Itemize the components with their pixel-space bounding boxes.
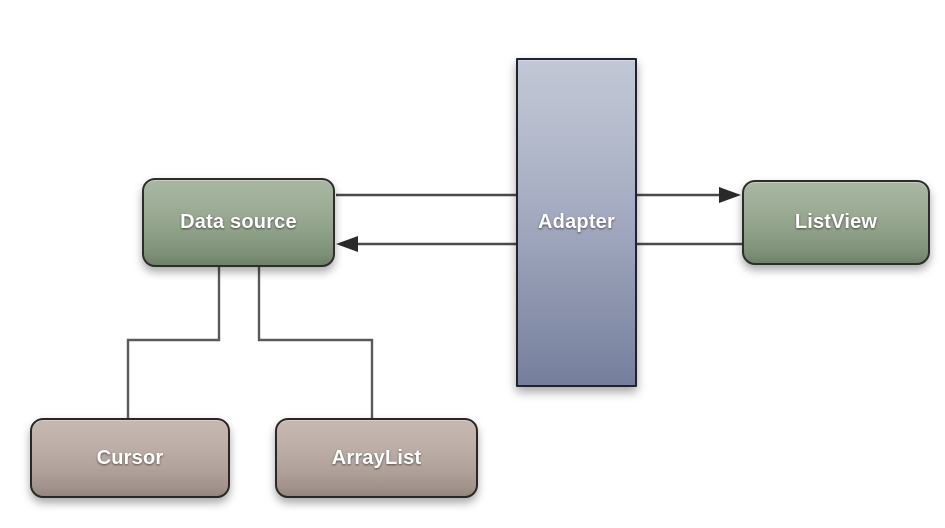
edge-datasource-to-arraylist [259,266,372,419]
node-arraylist-label: ArrayList [332,447,422,470]
node-cursor[interactable]: Cursor [30,418,230,498]
node-cursor-label: Cursor [97,447,164,470]
node-listview-label: ListView [795,211,877,234]
node-arraylist[interactable]: ArrayList [275,418,478,498]
node-data-source[interactable]: Data source [142,178,335,267]
node-listview[interactable]: ListView [742,180,930,265]
node-adapter[interactable]: Adapter [516,58,637,387]
diagram-canvas: Data source Adapter ListView Cursor Arra… [0,0,945,528]
edge-datasource-to-cursor [128,266,219,419]
node-data-source-label: Data source [180,211,297,234]
node-adapter-label: Adapter [538,211,615,234]
